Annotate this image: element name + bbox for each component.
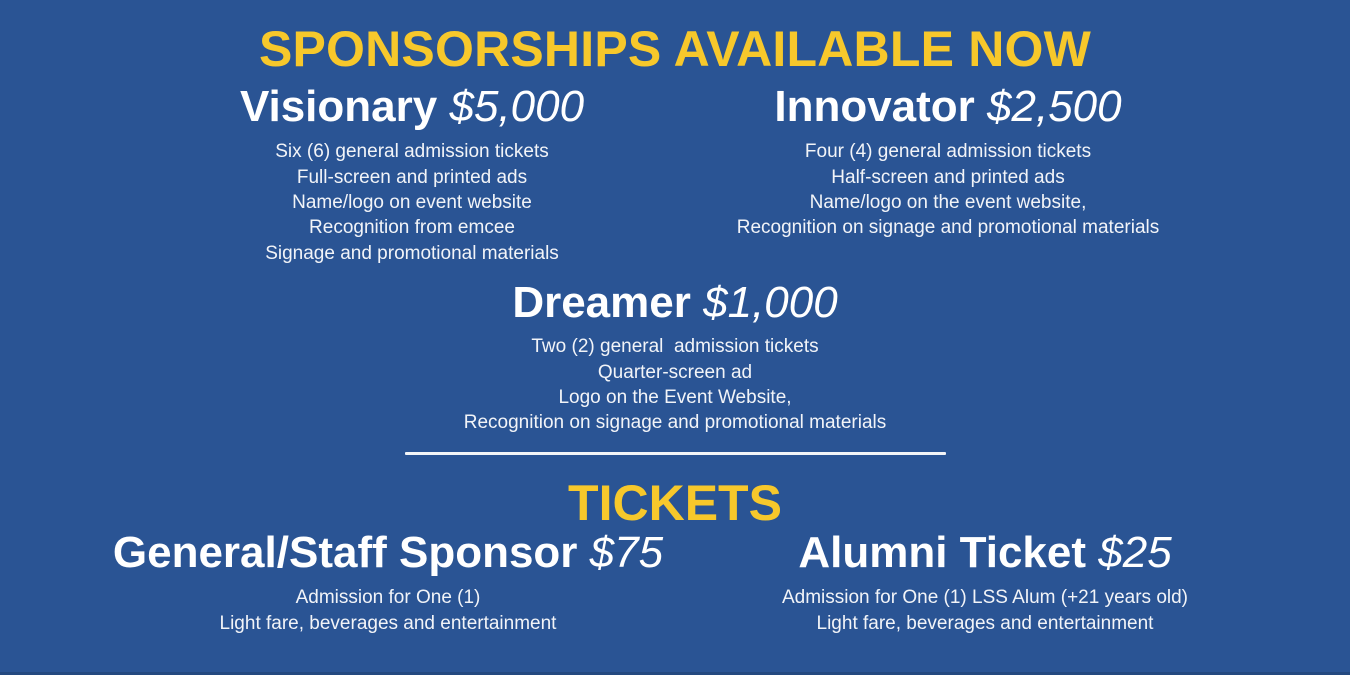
benefit-line: Signage and promotional materials	[92, 241, 732, 266]
benefit-line: Admission for One (1)	[63, 585, 713, 610]
benefit-line: Logo on the Event Website,	[0, 385, 1350, 410]
benefit-line: Admission for One (1) LSS Alum (+21 year…	[660, 585, 1310, 610]
benefit-line: Four (4) general admission tickets	[628, 139, 1268, 164]
tier-price: $25	[1098, 528, 1171, 577]
tier-benefits: Four (4) general admission tickets Half-…	[628, 139, 1268, 241]
benefit-line: Recognition on signage and promotional m…	[0, 410, 1350, 435]
section-divider	[405, 452, 946, 455]
tier-heading: Dreamer $1,000	[0, 278, 1350, 328]
benefit-line: Light fare, beverages and entertainment	[660, 611, 1310, 636]
benefit-line: Two (2) general admission tickets	[0, 334, 1350, 359]
tier-price: $2,500	[987, 82, 1122, 131]
tier-name: Innovator	[774, 82, 974, 131]
tier-name: Dreamer	[512, 278, 691, 327]
tier-benefits: Admission for One (1) LSS Alum (+21 year…	[660, 585, 1310, 636]
tier-heading: Alumni Ticket $25	[660, 528, 1310, 578]
page-title: SPONSORSHIPS AVAILABLE NOW	[0, 22, 1350, 76]
benefit-line: Half-screen and printed ads	[628, 165, 1268, 190]
ticket-tier-alumni: Alumni Ticket $25 Admission for One (1) …	[660, 528, 1310, 636]
benefit-line: Recognition on signage and promotional m…	[628, 215, 1268, 240]
ticket-tier-general-staff-sponsor: General/Staff Sponsor $75 Admission for …	[63, 528, 713, 636]
tier-price: $1,000	[703, 278, 838, 327]
tier-price: $5,000	[449, 82, 584, 131]
benefit-line: Quarter-screen ad	[0, 360, 1350, 385]
tier-name: General/Staff Sponsor	[113, 528, 578, 577]
tier-heading: Innovator $2,500	[628, 82, 1268, 132]
sponsorship-poster: SPONSORSHIPS AVAILABLE NOW Visionary $5,…	[0, 0, 1350, 675]
tier-benefits: Two (2) general admission tickets Quarte…	[0, 334, 1350, 436]
benefit-line: Name/logo on the event website,	[628, 190, 1268, 215]
tier-name: Alumni Ticket	[798, 528, 1086, 577]
tier-name: Visionary	[240, 82, 437, 131]
tier-heading: General/Staff Sponsor $75	[63, 528, 713, 578]
tier-price: $75	[590, 528, 663, 577]
tier-benefits: Admission for One (1) Light fare, bevera…	[63, 585, 713, 636]
sponsor-tier-dreamer: Dreamer $1,000 Two (2) general admission…	[0, 278, 1350, 436]
tickets-section-title: TICKETS	[0, 476, 1350, 530]
sponsor-tier-innovator: Innovator $2,500 Four (4) general admiss…	[628, 82, 1268, 241]
benefit-line: Light fare, beverages and entertainment	[63, 611, 713, 636]
